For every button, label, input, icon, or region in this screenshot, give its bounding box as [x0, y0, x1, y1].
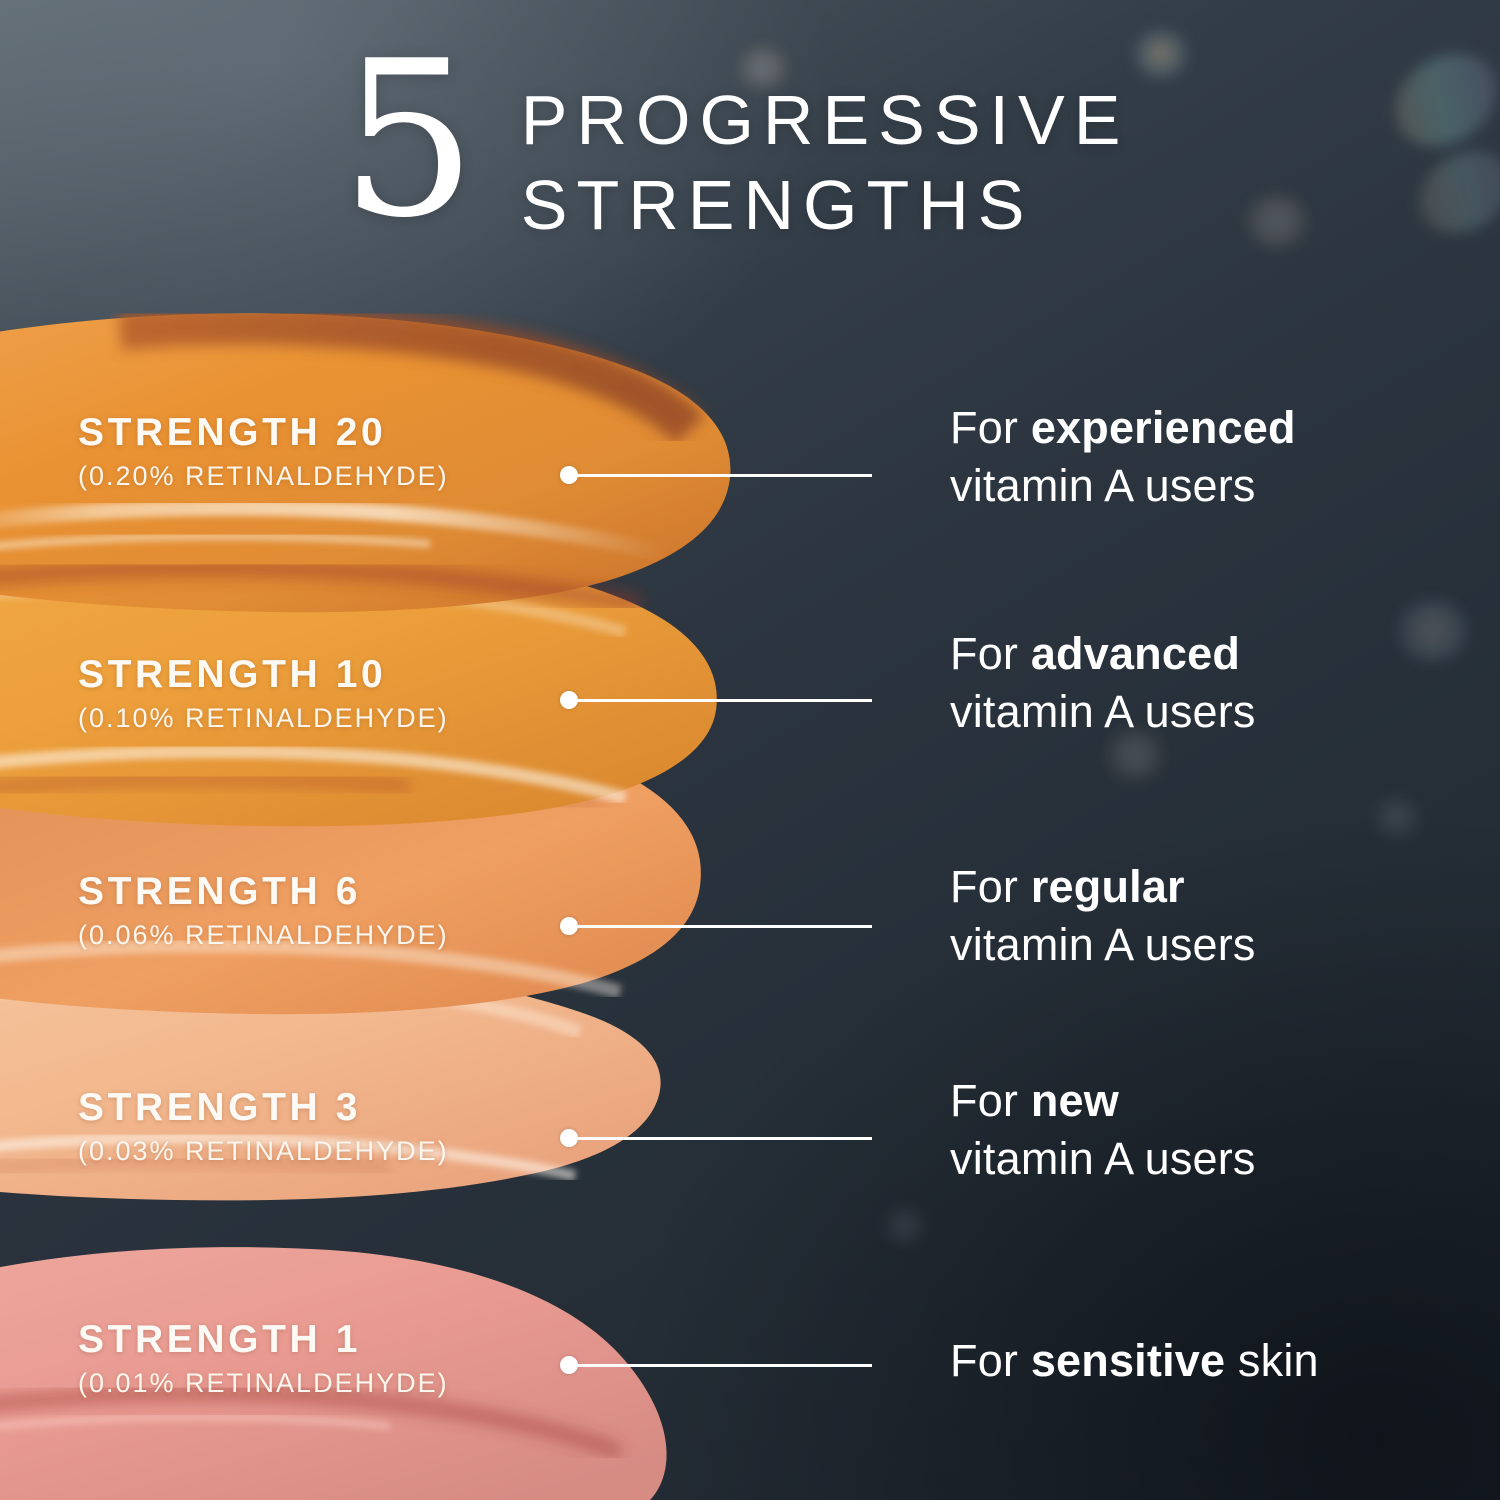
- desc-bold: sensitive: [1031, 1335, 1225, 1386]
- strength-concentration: (0.10% RETINALDEHYDE): [78, 703, 548, 734]
- description-line-2: vitamin A users: [950, 457, 1470, 515]
- strength-row-label: STRENGTH 6 (0.06% RETINALDEHYDE): [78, 872, 548, 951]
- description-line-2: vitamin A users: [950, 683, 1470, 741]
- description-line-2: vitamin A users: [950, 916, 1470, 974]
- strength-row-label: STRENGTH 1 (0.01% RETINALDEHYDE): [78, 1320, 548, 1399]
- strength-concentration: (0.03% RETINALDEHYDE): [78, 1136, 548, 1167]
- strength-row-description: For experienced vitamin A users: [950, 399, 1470, 514]
- connector-rule: [576, 474, 872, 477]
- connector-rule: [576, 1137, 872, 1140]
- strength-row-description: For regular vitamin A users: [950, 858, 1470, 973]
- strength-row-label: STRENGTH 20 (0.20% RETINALDEHYDE): [78, 413, 548, 492]
- desc-prefix: For: [950, 861, 1031, 912]
- strength-concentration: (0.20% RETINALDEHYDE): [78, 461, 548, 492]
- connector-line: [560, 1128, 872, 1148]
- description-line-1: For new: [950, 1072, 1470, 1130]
- strength-title: STRENGTH 3: [78, 1088, 548, 1128]
- desc-prefix: For: [950, 402, 1031, 453]
- product-strength-infographic: 5 PROGRESSIVE STRENGTHS: [0, 0, 1500, 1500]
- desc-bold: experienced: [1031, 402, 1296, 453]
- desc-prefix: For: [950, 628, 1031, 679]
- strength-row-description: For new vitamin A users: [950, 1072, 1470, 1187]
- bokeh-flare: [1378, 35, 1500, 165]
- description-line-1: For advanced: [950, 625, 1470, 683]
- strength-title: STRENGTH 6: [78, 872, 548, 912]
- desc-bold: advanced: [1031, 628, 1240, 679]
- connector-line: [560, 465, 872, 485]
- desc-bold: new: [1031, 1075, 1119, 1126]
- page-title: 5 PROGRESSIVE STRENGTHS: [340, 48, 1340, 249]
- description-line-1: For regular: [950, 858, 1470, 916]
- bokeh-flare: [1370, 795, 1424, 839]
- heading-text: PROGRESSIVE STRENGTHS: [521, 48, 1130, 249]
- description-line-2: vitamin A users: [950, 1130, 1470, 1188]
- desc-suffix: skin: [1225, 1335, 1319, 1386]
- strength-title: STRENGTH 10: [78, 655, 548, 695]
- connector-rule: [576, 699, 872, 702]
- bokeh-flare: [880, 1205, 930, 1247]
- strength-row-description: For sensitive skin: [950, 1332, 1470, 1390]
- strength-row-label: STRENGTH 3 (0.03% RETINALDEHYDE): [78, 1088, 548, 1167]
- desc-prefix: For: [950, 1075, 1031, 1126]
- strength-title: STRENGTH 1: [78, 1320, 548, 1360]
- strength-concentration: (0.01% RETINALDEHYDE): [78, 1368, 548, 1399]
- strength-row-label: STRENGTH 10 (0.10% RETINALDEHYDE): [78, 655, 548, 734]
- connector-rule: [576, 1364, 872, 1367]
- description-line-1: For experienced: [950, 399, 1470, 457]
- connector-line: [560, 690, 872, 710]
- description-line-1: For sensitive skin: [950, 1332, 1470, 1390]
- desc-prefix: For: [950, 1335, 1031, 1386]
- connector-line: [560, 1355, 872, 1375]
- heading-line-2: STRENGTHS: [521, 163, 1130, 248]
- heading-number: 5: [340, 52, 473, 228]
- bokeh-flare: [1405, 134, 1500, 249]
- heading-line-1: PROGRESSIVE: [521, 78, 1130, 163]
- strength-concentration: (0.06% RETINALDEHYDE): [78, 920, 548, 951]
- desc-bold: regular: [1031, 861, 1185, 912]
- strength-row-description: For advanced vitamin A users: [950, 625, 1470, 740]
- strength-title: STRENGTH 20: [78, 413, 548, 453]
- connector-line: [560, 916, 872, 936]
- connector-rule: [576, 925, 872, 928]
